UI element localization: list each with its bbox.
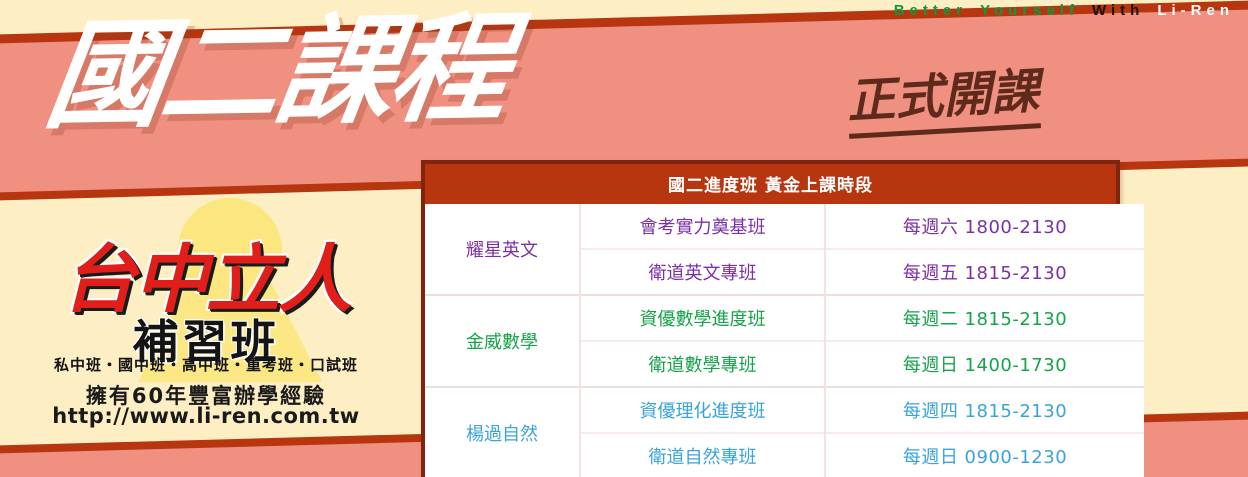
course-time-cell: 每週日 0900-1230: [825, 433, 1144, 477]
subheadline-group: 正式開課: [845, 51, 1041, 139]
subject-cell: 楊過自然: [425, 387, 580, 477]
subject-cell: 耀星英文: [425, 204, 580, 295]
course-name-cell: 衛道自然專班: [580, 433, 825, 477]
logo: 台中立人 補習班 私中班・國中班・高中班・重考班・口試班 擁有60年豐富辦學經驗…: [26, 196, 386, 426]
table-row: 金威數學資優數學進度班每週二 1815-2130: [425, 295, 1144, 341]
subject-cell: 金威數學: [425, 295, 580, 387]
course-time-cell: 每週四 1815-2130: [825, 387, 1144, 433]
tagline: BetterYourselfWithLi-Ren: [894, 2, 1234, 19]
schedule-table: 國二進度班 黃金上課時段 耀星英文會考實力奠基班每週六 1800-2130衛道英…: [421, 160, 1120, 477]
tagline-word-yourself: Yourself: [980, 2, 1079, 19]
course-name-cell: 衛道數學專班: [580, 341, 825, 387]
table-row: 耀星英文會考實力奠基班每週六 1800-2130: [425, 204, 1144, 249]
course-time-cell: 每週六 1800-2130: [825, 204, 1144, 249]
course-time-cell: 每週五 1815-2130: [825, 249, 1144, 295]
course-name-cell: 衛道英文專班: [580, 249, 825, 295]
course-time-cell: 每週二 1815-2130: [825, 295, 1144, 341]
table-row: 楊過自然資優理化進度班每週四 1815-2130: [425, 387, 1144, 433]
tagline-word-better: Better: [894, 2, 967, 19]
tagline-word-liren: Li-Ren: [1157, 2, 1234, 19]
subheadline: 正式開課: [845, 51, 1041, 132]
schedule-table-header: 國二進度班 黃金上課時段: [425, 164, 1116, 204]
course-time-cell: 每週日 1400-1730: [825, 341, 1144, 387]
promo-banner: BetterYourselfWithLi-Ren 國二課程 正式開課 台中立人 …: [0, 0, 1248, 477]
page-title: 國二課程: [38, 0, 515, 145]
website-url: http://www.li-ren.com.tw: [26, 404, 386, 428]
class-types-list: 私中班・國中班・高中班・重考班・口試班: [26, 354, 386, 375]
tagline-word-with: With: [1092, 2, 1144, 19]
course-name-cell: 資優數學進度班: [580, 295, 825, 341]
course-name-cell: 會考實力奠基班: [580, 204, 825, 249]
schedule-grid: 耀星英文會考實力奠基班每週六 1800-2130衛道英文專班每週五 1815-2…: [425, 204, 1144, 477]
course-name-cell: 資優理化進度班: [580, 387, 825, 433]
